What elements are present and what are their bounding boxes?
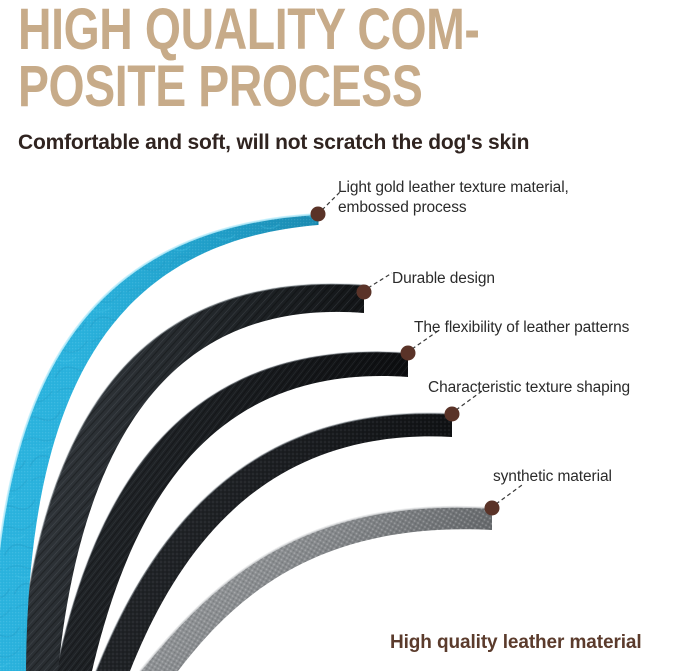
callout-label-leather-flexibility: The flexibility of leather patterns	[414, 318, 629, 338]
callout-dot-2[interactable]	[357, 285, 372, 300]
page-title: HIGH QUALITY COM- POSITE PROCESS	[18, 2, 538, 116]
page-subtitle: Comfortable and soft, will not scratch t…	[18, 131, 529, 155]
callout-dot-3[interactable]	[401, 346, 416, 361]
callout-dot-1[interactable]	[311, 207, 326, 222]
callout-dot-5[interactable]	[485, 501, 500, 516]
footer-caption: High quality leather material	[390, 632, 642, 654]
callout-label-texture-shaping: Characteristic texture shaping	[428, 378, 630, 398]
carbon-weave-layer	[0, 284, 364, 671]
layered-material-illustration	[0, 165, 679, 671]
callout-dot-4[interactable]	[445, 407, 460, 422]
callout-label-durable-design: Durable design	[392, 269, 495, 289]
callout-label-synthetic-material: synthetic material	[493, 467, 612, 487]
infographic-canvas: HIGH QUALITY COM- POSITE PROCESS Comfort…	[0, 0, 679, 671]
callout-label-light-gold-leather: Light gold leather texture material, emb…	[338, 178, 569, 218]
leader-line-2	[368, 273, 392, 288]
leader-line-5	[496, 485, 522, 504]
